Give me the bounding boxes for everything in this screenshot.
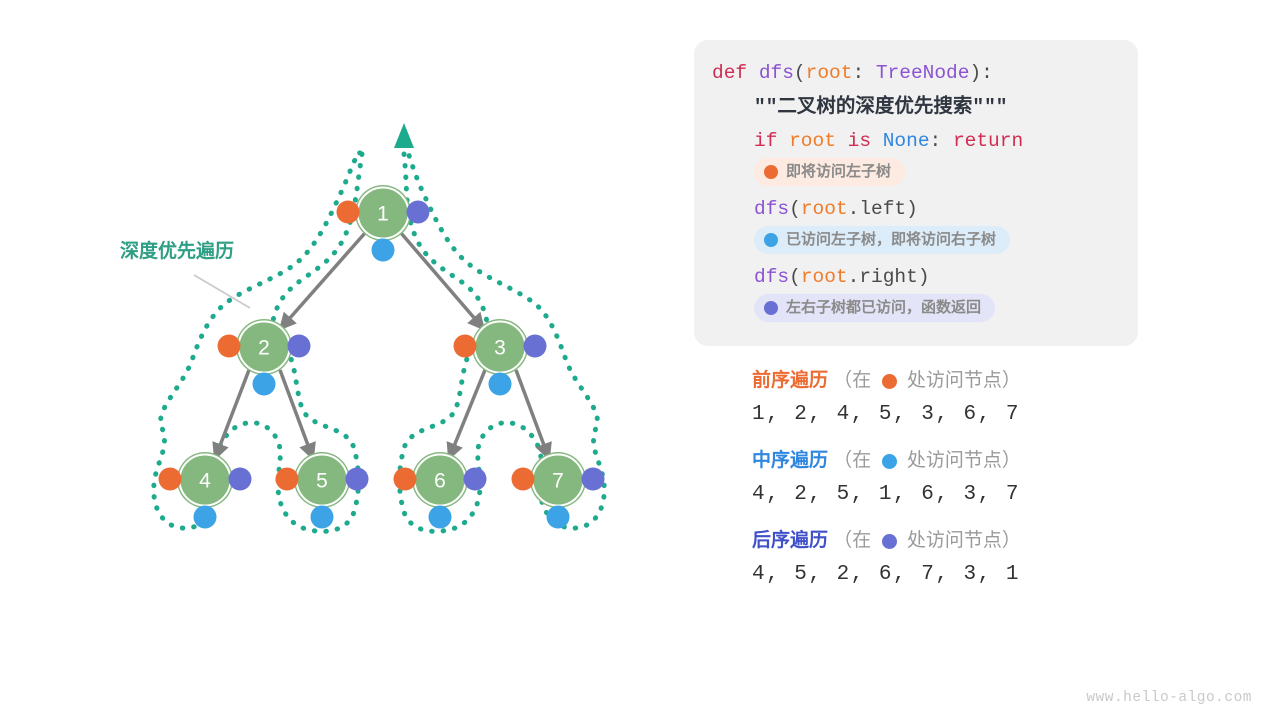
- traversal-order-title: 中序遍历: [752, 448, 828, 474]
- traversal-note-close: 处访问节点）: [902, 368, 1021, 394]
- edge-1-2: [282, 233, 365, 327]
- tree-diagram-panel: 1234567 深度优先遍历: [0, 0, 680, 720]
- code-token-punc: (: [794, 62, 806, 84]
- tree-nodes-layer: 1234567: [159, 185, 605, 529]
- inorder-marker-dot: [311, 506, 334, 529]
- inorder-marker-dot: [547, 506, 570, 529]
- traversal-order-heading: 后序遍历 （在 处访问节点）: [752, 528, 1172, 554]
- code-line: def dfs(root: TreeNode):: [712, 56, 1120, 90]
- traversal-order-title: 后序遍历: [752, 528, 828, 554]
- code-annotation-row: 即将访问左子树: [712, 158, 1120, 192]
- code-token-kw: is: [848, 130, 883, 152]
- binary-tree-svg: 1234567 深度优先遍历: [0, 0, 680, 720]
- preorder-marker-dot: [454, 335, 477, 358]
- inorder-marker-dot: [253, 373, 276, 396]
- code-token-kw: if: [754, 130, 789, 152]
- preorder-marker-dot: [159, 468, 182, 491]
- inorder-marker-dot: [194, 506, 217, 529]
- caption-leader-line: [194, 275, 250, 308]
- edge-3-6: [450, 370, 485, 456]
- code-token-punc: (: [789, 198, 801, 220]
- postorder-marker-dot: [288, 335, 311, 358]
- preorder-marker-dot: [218, 335, 241, 358]
- node-value-label: 5: [316, 470, 328, 493]
- code-token-punc: ): [918, 266, 930, 288]
- code-token-punc: (: [789, 266, 801, 288]
- code-lines: def dfs(root: TreeNode):""二叉树的深度优先搜索"""i…: [712, 56, 1120, 328]
- preorder-marker-dot: [512, 468, 535, 491]
- preorder-marker-dot: [276, 468, 299, 491]
- dfs-caption-label: 深度优先遍历: [120, 239, 234, 262]
- code-snippet-card: def dfs(root: TreeNode):""二叉树的深度优先搜索"""i…: [694, 40, 1138, 346]
- edge-1-3: [401, 233, 482, 327]
- postorder-marker-dot: [464, 468, 487, 491]
- code-token-param: root: [806, 62, 853, 84]
- node-value-label: 2: [258, 337, 270, 360]
- node-value-label: 1: [377, 203, 389, 226]
- traversal-marker-dot-icon: [882, 454, 897, 469]
- tree-node-5: 5: [276, 452, 369, 529]
- traversal-note-close: 处访问节点）: [902, 448, 1021, 474]
- annotation-badge: 已访问左子树，即将访问右子树: [754, 226, 1010, 254]
- traversal-marker-dot-icon: [882, 374, 897, 389]
- code-token-param: root: [801, 266, 848, 288]
- code-line: ""二叉树的深度优先搜索""": [712, 90, 1120, 124]
- code-token-punc: :: [930, 130, 953, 152]
- code-annotation-row: 左右子树都已访问，函数返回: [712, 294, 1120, 328]
- inorder-marker-dot: [429, 506, 452, 529]
- traversal-order-group: 前序遍历 （在 处访问节点）1, 2, 4, 5, 3, 6, 7: [752, 368, 1172, 426]
- node-value-label: 4: [199, 470, 211, 493]
- traversal-order-group: 后序遍历 （在 处访问节点）4, 5, 2, 6, 7, 3, 1: [752, 528, 1172, 586]
- annotation-badge: 左右子树都已访问，函数返回: [754, 294, 995, 322]
- code-token-fn: dfs: [754, 198, 789, 220]
- code-token-cls: TreeNode: [876, 62, 970, 84]
- edge-2-4: [216, 370, 249, 456]
- traversal-sequence: 4, 5, 2, 6, 7, 3, 1: [752, 563, 1172, 586]
- traversal-order-group: 中序遍历 （在 处访问节点）4, 2, 5, 1, 6, 3, 7: [752, 448, 1172, 506]
- node-value-label: 6: [434, 470, 446, 493]
- tree-node-7: 7: [512, 452, 605, 529]
- code-line: if root is None: return: [712, 124, 1120, 158]
- code-token-builtin: None: [883, 130, 930, 152]
- code-token-punc: ): [906, 198, 918, 220]
- code-token-fn: dfs: [759, 62, 794, 84]
- code-annotation-row: 已访问左子树，即将访问右子树: [712, 226, 1120, 260]
- preorder-marker-dot: [394, 468, 417, 491]
- edge-3-7: [516, 370, 548, 456]
- code-token-attr: .left: [848, 198, 907, 220]
- code-token-fn: dfs: [754, 266, 789, 288]
- code-token-kw: return: [953, 130, 1023, 152]
- code-line: dfs(root.left): [712, 192, 1120, 226]
- preorder-marker-dot: [337, 201, 360, 224]
- code-token-punc: :: [852, 62, 875, 84]
- traversal-note-open: （在: [828, 528, 877, 554]
- code-token-str: ""二叉树的深度优先搜索""": [754, 96, 1008, 118]
- postorder-marker-dot: [346, 468, 369, 491]
- traversal-order-title: 前序遍历: [752, 368, 828, 394]
- traversal-start-arrow-icon: [394, 123, 414, 148]
- annotation-label: 已访问左子树，即将访问右子树: [786, 229, 996, 251]
- traversal-orders-panel: 前序遍历 （在 处访问节点）1, 2, 4, 5, 3, 6, 7中序遍历 （在…: [752, 368, 1172, 608]
- traversal-marker-dot-icon: [882, 534, 897, 549]
- postorder-marker-dot: [524, 335, 547, 358]
- traversal-sequence: 1, 2, 4, 5, 3, 6, 7: [752, 403, 1172, 426]
- annotation-badge: 即将访问左子树: [754, 158, 905, 186]
- traversal-note-close: 处访问节点）: [902, 528, 1021, 554]
- traversal-order-heading: 前序遍历 （在 处访问节点）: [752, 368, 1172, 394]
- code-token-kw: def: [712, 62, 759, 84]
- code-token-param: root: [801, 198, 848, 220]
- annotation-label: 左右子树都已访问，函数返回: [786, 297, 981, 319]
- postorder-marker-dot: [229, 468, 252, 491]
- annotation-marker-dot-icon: [764, 165, 778, 179]
- postorder-marker-dot: [407, 201, 430, 224]
- tree-node-6: 6: [394, 452, 487, 529]
- inorder-marker-dot: [489, 373, 512, 396]
- annotation-marker-dot-icon: [764, 301, 778, 315]
- inorder-marker-dot: [372, 239, 395, 262]
- traversal-sequence: 4, 2, 5, 1, 6, 3, 7: [752, 483, 1172, 506]
- traversal-order-heading: 中序遍历 （在 处访问节点）: [752, 448, 1172, 474]
- traversal-note-open: （在: [828, 368, 877, 394]
- postorder-marker-dot: [582, 468, 605, 491]
- node-value-label: 3: [494, 337, 506, 360]
- code-token-attr: .right: [848, 266, 918, 288]
- annotation-marker-dot-icon: [764, 233, 778, 247]
- traversal-note-open: （在: [828, 448, 877, 474]
- code-token-param: root: [789, 130, 848, 152]
- tree-node-4: 4: [159, 452, 252, 529]
- site-watermark: www.hello-algo.com: [1086, 690, 1252, 706]
- annotation-label: 即将访问左子树: [786, 161, 891, 183]
- node-value-label: 7: [552, 470, 564, 493]
- code-line: dfs(root.right): [712, 260, 1120, 294]
- code-token-punc: ):: [969, 62, 992, 84]
